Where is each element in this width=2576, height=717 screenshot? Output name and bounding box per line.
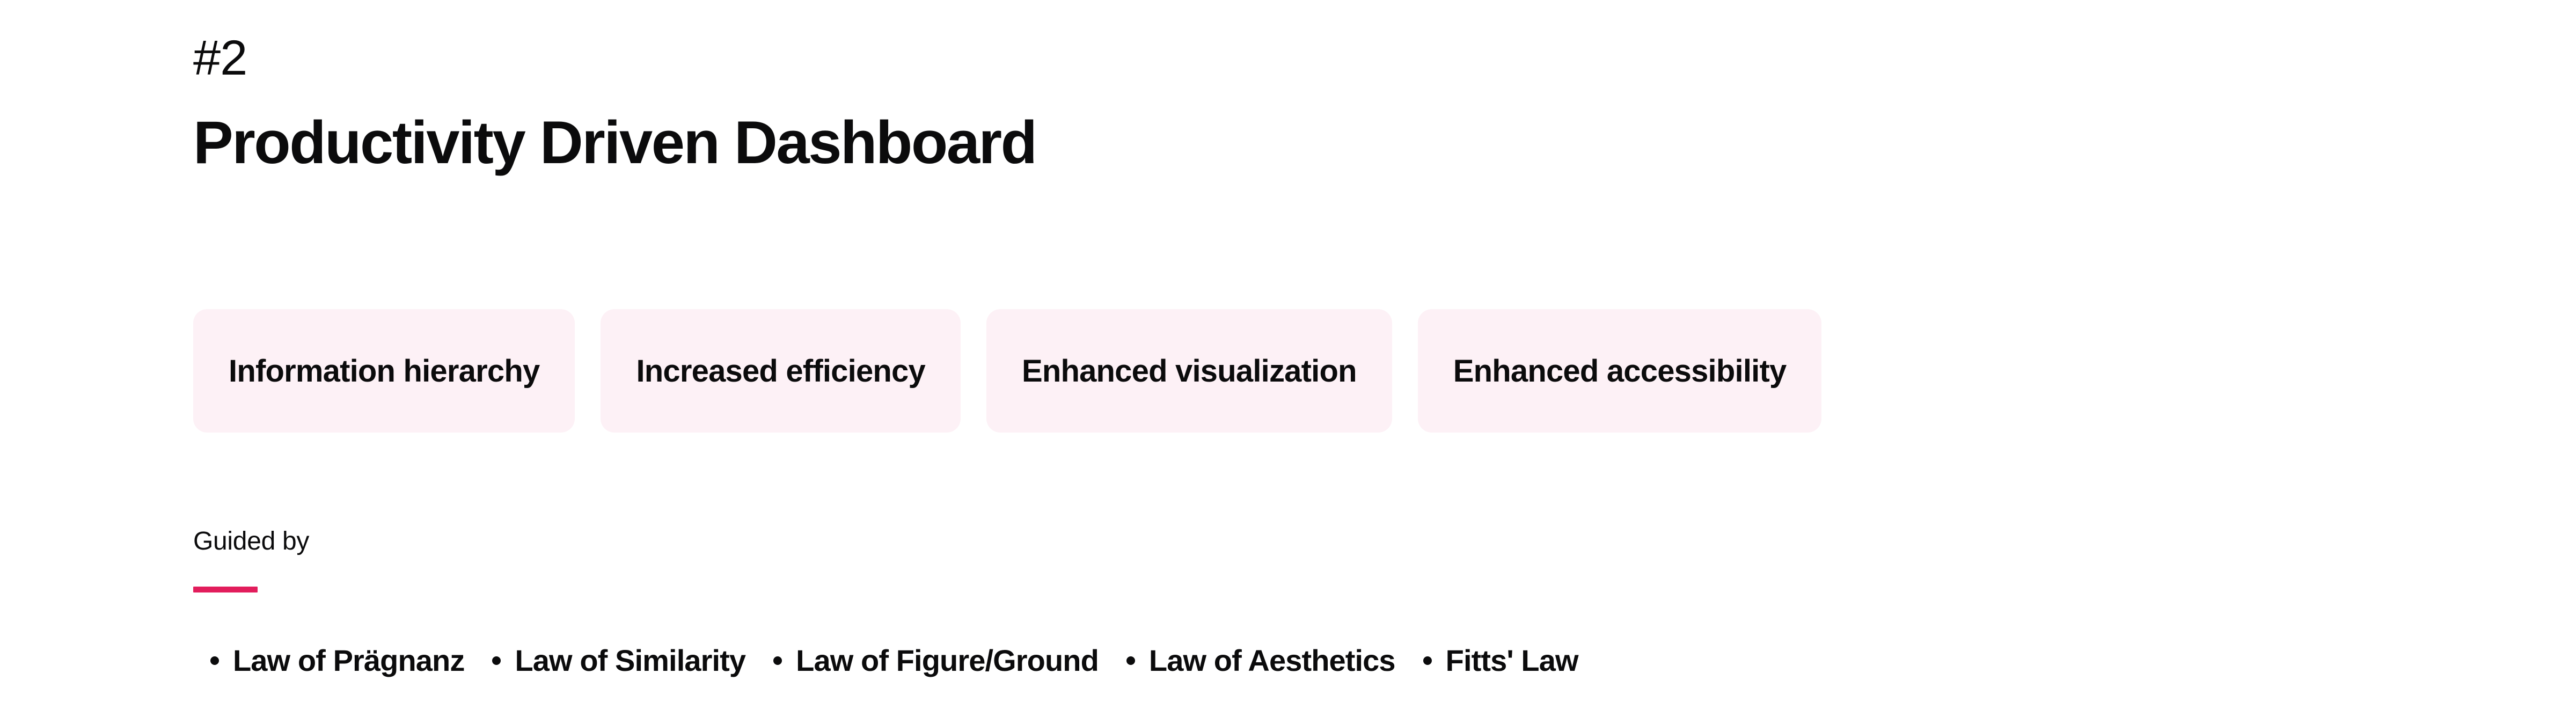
list-item: Law of Aesthetics <box>1126 643 1423 678</box>
bullet-dot-icon <box>210 656 219 665</box>
header-block: #2 Productivity Driven Dashboard <box>193 33 1036 213</box>
list-item: Law of Prägnanz <box>210 643 492 678</box>
benefit-pill-label: Enhanced accessibility <box>1453 353 1787 389</box>
list-item: Fitts' Law <box>1423 643 1578 678</box>
design-principle-list: Law of Prägnanz Law of Similarity Law of… <box>210 643 1578 678</box>
list-item: Law of Similarity <box>492 643 773 678</box>
benefit-pill-enhanced-accessibility[interactable]: Enhanced accessibility <box>1418 309 1822 433</box>
benefit-pill-row: Information hierarchy Increased efficien… <box>193 309 1821 433</box>
section-index-label: #2 <box>193 33 1036 83</box>
list-item: Law of Figure/Ground <box>773 643 1126 678</box>
guided-by-label: Guided by <box>193 529 309 554</box>
principle-label: Law of Similarity <box>515 643 745 678</box>
case-study-section: #2 Productivity Driven Dashboard Informa… <box>0 0 2576 717</box>
benefit-pill-information-hierarchy[interactable]: Information hierarchy <box>193 309 575 433</box>
bullet-dot-icon <box>1423 656 1432 665</box>
accent-underline-bar <box>193 587 258 592</box>
benefit-pill-increased-efficiency[interactable]: Increased efficiency <box>601 309 961 433</box>
principle-label: Fitts' Law <box>1446 643 1578 678</box>
guided-by-block: Guided by <box>193 529 309 592</box>
benefit-pill-label: Information hierarchy <box>229 353 539 389</box>
page-title: Productivity Driven Dashboard <box>193 113 1036 173</box>
bullet-dot-icon <box>1126 656 1135 665</box>
bullet-dot-icon <box>773 656 782 665</box>
bullet-dot-icon <box>492 656 501 665</box>
benefit-pill-enhanced-visualization[interactable]: Enhanced visualization <box>986 309 1392 433</box>
principle-label: Law of Prägnanz <box>233 643 464 678</box>
benefit-pill-label: Enhanced visualization <box>1022 353 1357 389</box>
benefit-pill-label: Increased efficiency <box>636 353 925 389</box>
principle-label: Law of Figure/Ground <box>796 643 1099 678</box>
principle-label: Law of Aesthetics <box>1149 643 1395 678</box>
